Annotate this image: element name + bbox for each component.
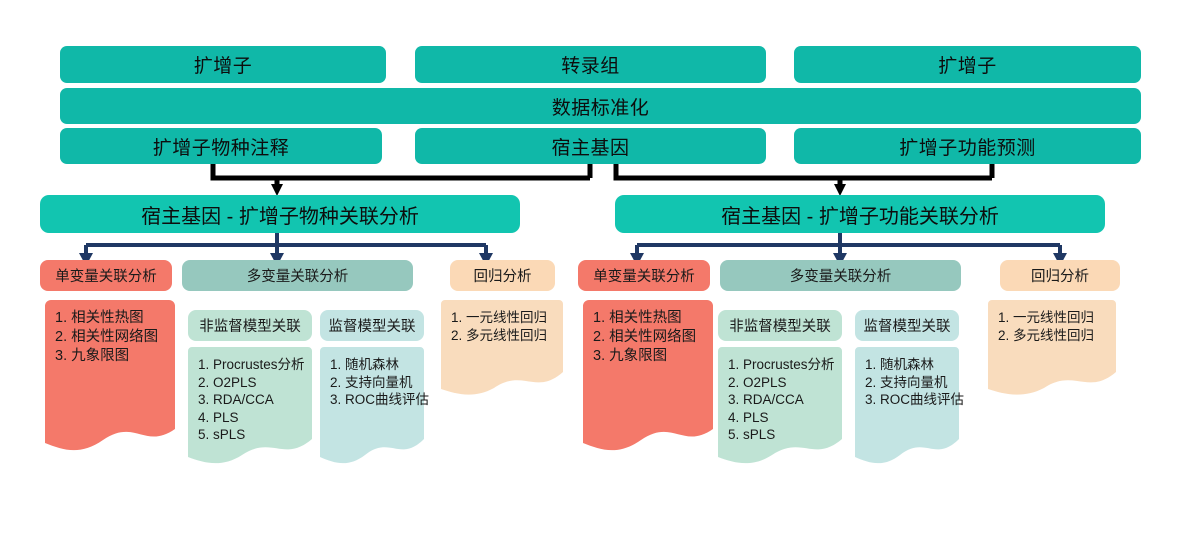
diagram-canvas: 扩增子 转录组 扩增子 数据标准化 扩增子物种注释 宿主基因 扩增子功能预测 宿… xyxy=(0,0,1200,553)
list-item: 3. 九象限图 xyxy=(593,347,696,366)
annotation-bar-amplicon-function-label: 扩增子功能预测 xyxy=(899,133,1036,160)
annotation-bar-host-gene[interactable]: 宿主基因 xyxy=(415,128,766,164)
input-bar-amplicon-left-label: 扩增子 xyxy=(194,51,253,78)
subchip-unsupervised-right-label: 非监督模型关联 xyxy=(729,315,831,336)
panel-univariate-left: 1. 相关性热图 2. 相关性网络图 3. 九象限图 xyxy=(45,300,175,458)
list-item: 2. O2PLS xyxy=(198,374,305,392)
input-bar-amplicon-left[interactable]: 扩增子 xyxy=(60,46,386,83)
panel-supervised-left: 1. 随机森林 2. 支持向量机 3. ROC曲线评估 xyxy=(320,347,424,469)
annotation-bar-amplicon-species-label: 扩增子物种注释 xyxy=(153,133,290,160)
subchip-unsupervised-left[interactable]: 非监督模型关联 xyxy=(188,310,312,341)
panel-regression-left-text: 1. 一元线性回归 2. 多元线性回归 xyxy=(441,300,555,344)
subchip-supervised-left-label: 监督模型关联 xyxy=(329,315,416,336)
normalization-bar-label: 数据标准化 xyxy=(552,93,650,120)
list-item: 2. 支持向量机 xyxy=(865,374,964,392)
chip-multivariate-left-label: 多变量关联分析 xyxy=(247,265,349,286)
list-item: 2. 支持向量机 xyxy=(330,374,429,392)
panel-unsupervised-right: 1. Procrustes分析 2. O2PLS 3. RDA/CCA 4. P… xyxy=(718,347,842,469)
list-item: 2. 多元线性回归 xyxy=(998,327,1094,345)
list-item: 1. 一元线性回归 xyxy=(998,309,1094,327)
panel-unsupervised-left: 1. Procrustes分析 2. O2PLS 3. RDA/CCA 4. P… xyxy=(188,347,312,469)
list-item: 1. 一元线性回归 xyxy=(451,309,547,327)
list-item: 5. sPLS xyxy=(728,426,835,444)
section-title-species-association[interactable]: 宿主基因 ‐ 扩增子物种关联分析 xyxy=(40,195,520,233)
chip-univariate-right-label: 单变量关联分析 xyxy=(593,265,695,286)
list-item: 3. ROC曲线评估 xyxy=(330,391,429,409)
section-title-function-association[interactable]: 宿主基因 ‐ 扩增子功能关联分析 xyxy=(615,195,1105,233)
panel-unsupervised-left-text: 1. Procrustes分析 2. O2PLS 3. RDA/CCA 4. P… xyxy=(188,347,313,444)
chip-regression-right[interactable]: 回归分析 xyxy=(1000,260,1120,291)
subchip-supervised-right[interactable]: 监督模型关联 xyxy=(855,310,959,341)
input-bar-transcriptome[interactable]: 转录组 xyxy=(415,46,766,83)
panel-univariate-left-text: 1. 相关性热图 2. 相关性网络图 3. 九象限图 xyxy=(45,300,166,366)
panel-univariate-right-text: 1. 相关性热图 2. 相关性网络图 3. 九象限图 xyxy=(583,300,704,366)
annotation-bar-amplicon-function[interactable]: 扩增子功能预测 xyxy=(794,128,1141,164)
list-item: 1. 相关性热图 xyxy=(593,309,696,328)
input-bar-amplicon-right-label: 扩增子 xyxy=(938,51,997,78)
input-bar-amplicon-right[interactable]: 扩增子 xyxy=(794,46,1141,83)
list-item: 2. 相关性网络图 xyxy=(55,328,158,347)
chip-regression-left-label: 回归分析 xyxy=(474,265,532,286)
chip-univariate-right[interactable]: 单变量关联分析 xyxy=(578,260,710,291)
chip-multivariate-right-label: 多变量关联分析 xyxy=(790,265,892,286)
list-item: 4. PLS xyxy=(728,409,835,427)
list-item: 5. sPLS xyxy=(198,426,305,444)
panel-univariate-right: 1. 相关性热图 2. 相关性网络图 3. 九象限图 xyxy=(583,300,713,458)
subchip-unsupervised-left-label: 非监督模型关联 xyxy=(199,315,301,336)
section-title-function-association-label: 宿主基因 ‐ 扩增子功能关联分析 xyxy=(721,200,999,229)
list-item: 1. Procrustes分析 xyxy=(198,356,305,374)
panel-unsupervised-right-text: 1. Procrustes分析 2. O2PLS 3. RDA/CCA 4. P… xyxy=(718,347,843,444)
section-title-species-association-label: 宿主基因 ‐ 扩增子物种关联分析 xyxy=(141,200,419,229)
panel-supervised-left-text: 1. 随机森林 2. 支持向量机 3. ROC曲线评估 xyxy=(320,347,437,409)
panel-supervised-right: 1. 随机森林 2. 支持向量机 3. ROC曲线评估 xyxy=(855,347,959,469)
list-item: 1. Procrustes分析 xyxy=(728,356,835,374)
list-item: 3. RDA/CCA xyxy=(198,391,305,409)
list-item: 3. ROC曲线评估 xyxy=(865,391,964,409)
chip-univariate-left-label: 单变量关联分析 xyxy=(55,265,157,286)
chip-univariate-left[interactable]: 单变量关联分析 xyxy=(40,260,172,291)
annotation-bar-amplicon-species[interactable]: 扩增子物种注释 xyxy=(60,128,382,164)
list-item: 1. 随机森林 xyxy=(865,356,964,374)
panel-regression-right: 1. 一元线性回归 2. 多元线性回归 xyxy=(988,300,1116,400)
chip-multivariate-left[interactable]: 多变量关联分析 xyxy=(182,260,413,291)
list-item: 3. RDA/CCA xyxy=(728,391,835,409)
list-item: 4. PLS xyxy=(198,409,305,427)
input-bar-transcriptome-label: 转录组 xyxy=(561,51,620,78)
chip-multivariate-right[interactable]: 多变量关联分析 xyxy=(720,260,961,291)
list-item: 2. 多元线性回归 xyxy=(451,327,547,345)
annotation-bar-host-gene-label: 宿主基因 xyxy=(551,133,629,160)
list-item: 2. O2PLS xyxy=(728,374,835,392)
list-item: 1. 随机森林 xyxy=(330,356,429,374)
panel-regression-left: 1. 一元线性回归 2. 多元线性回归 xyxy=(441,300,563,400)
normalization-bar[interactable]: 数据标准化 xyxy=(60,88,1141,124)
list-item: 3. 九象限图 xyxy=(55,347,158,366)
chip-regression-right-label: 回归分析 xyxy=(1031,265,1089,286)
list-item: 1. 相关性热图 xyxy=(55,309,158,328)
subchip-unsupervised-right[interactable]: 非监督模型关联 xyxy=(718,310,842,341)
list-item: 2. 相关性网络图 xyxy=(593,328,696,347)
subchip-supervised-right-label: 监督模型关联 xyxy=(864,315,951,336)
panel-regression-right-text: 1. 一元线性回归 2. 多元线性回归 xyxy=(988,300,1102,344)
subchip-supervised-left[interactable]: 监督模型关联 xyxy=(320,310,424,341)
panel-supervised-right-text: 1. 随机森林 2. 支持向量机 3. ROC曲线评估 xyxy=(855,347,972,409)
chip-regression-left[interactable]: 回归分析 xyxy=(450,260,555,291)
